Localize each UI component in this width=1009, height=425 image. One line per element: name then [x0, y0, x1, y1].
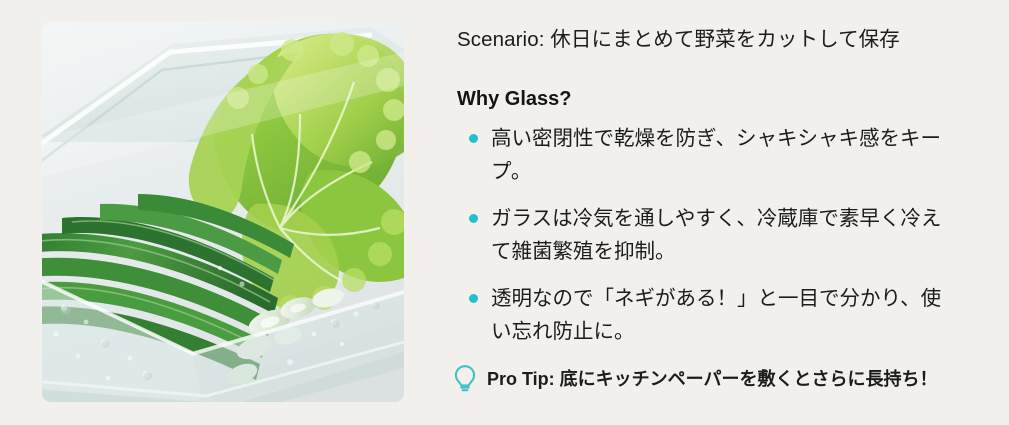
list-item-label: ガラスは冷気を通しやすく、冷蔵庫で素早く冷えて雑菌繁殖を抑制。 [491, 207, 941, 263]
benefits-list: 高い密閉性で乾燥を防ぎ、シャキシャキ感をキープ。 ガラスは冷気を通しやすく、冷蔵… [457, 122, 957, 348]
photo-illustration [42, 22, 404, 402]
pro-tip-label: Pro Tip: 底にキッチンペーパーを敷くとさらに長持ち！ [487, 367, 938, 391]
why-glass-heading: Why Glass? [457, 86, 957, 112]
bullet-dot-icon [469, 214, 478, 223]
content-column: Scenario: 休日にまとめて野菜をカットして保存 Why Glass? 高… [457, 26, 957, 348]
list-item-label: 透明なので「ネギがある！」と一目で分かり、使い忘れ防止に。 [491, 287, 941, 343]
bullet-dot-icon [469, 294, 478, 303]
list-item: ガラスは冷気を通しやすく、冷蔵庫で素早く冷えて雑菌繁殖を抑制。 [457, 202, 957, 268]
glass-container-photo [42, 22, 404, 402]
slide-root: Scenario: 休日にまとめて野菜をカットして保存 Why Glass? 高… [0, 0, 1009, 425]
bullet-dot-icon [469, 134, 478, 143]
list-item: 高い密閉性で乾燥を防ぎ、シャキシャキ感をキープ。 [457, 122, 957, 188]
list-item-label: 高い密閉性で乾燥を防ぎ、シャキシャキ感をキープ。 [491, 127, 941, 183]
pro-tip: Pro Tip: 底にキッチンペーパーを敷くとさらに長持ち！ [452, 364, 938, 394]
scenario-line: Scenario: 休日にまとめて野菜をカットして保存 [457, 26, 957, 54]
lightbulb-icon [452, 364, 478, 394]
list-item: 透明なので「ネギがある！」と一目で分かり、使い忘れ防止に。 [457, 282, 957, 348]
